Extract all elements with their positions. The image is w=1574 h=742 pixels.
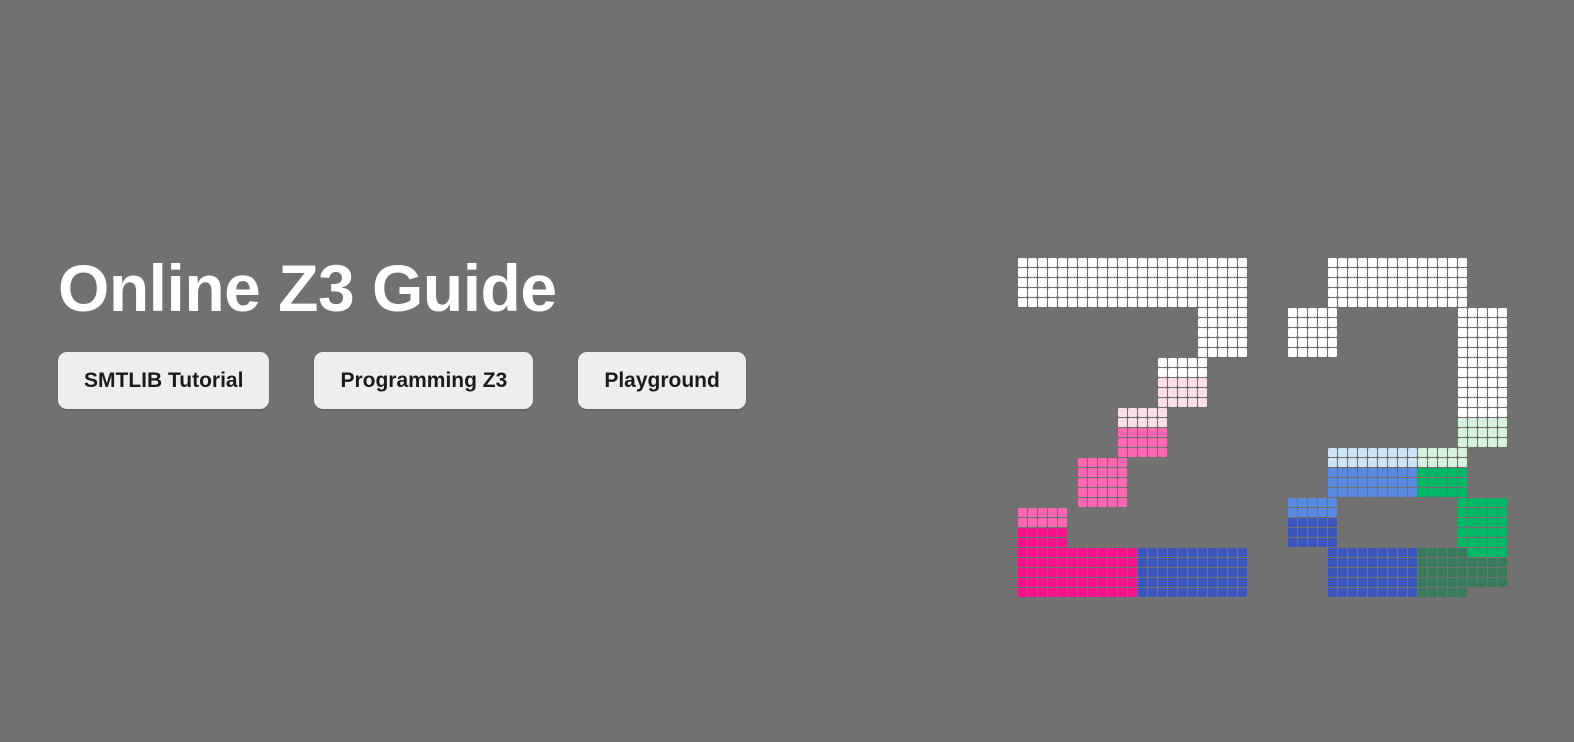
logo-pixel — [1448, 568, 1457, 577]
logo-pixel — [1478, 428, 1487, 437]
logo-pixel — [1348, 568, 1357, 577]
logo-pixel — [1488, 578, 1497, 587]
logo-pixel — [1458, 578, 1467, 587]
logo-pixel — [1058, 508, 1067, 517]
logo-pixel — [1388, 298, 1397, 307]
logo-pixel — [1488, 528, 1497, 537]
logo-pixel — [1488, 418, 1497, 427]
logo-pixel — [1108, 548, 1117, 557]
logo-pixel — [1188, 268, 1197, 277]
logo-pixel — [1298, 508, 1307, 517]
logo-pixel — [1038, 298, 1047, 307]
playground-button[interactable]: Playground — [578, 352, 746, 409]
logo-pixel — [1238, 318, 1247, 327]
hero-button-group: SMTLIB Tutorial Programming Z3 Playgroun… — [58, 352, 978, 409]
logo-pixel — [1478, 578, 1487, 587]
logo-pixel — [1128, 438, 1137, 447]
logo-pixel — [1228, 268, 1237, 277]
logo-pixel — [1318, 538, 1327, 547]
logo-pixel — [1098, 468, 1107, 477]
logo-pixel — [1088, 488, 1097, 497]
logo-pixel — [1238, 308, 1247, 317]
logo-pixel — [1398, 278, 1407, 287]
logo-pixel — [1318, 338, 1327, 347]
logo-pixel — [1128, 558, 1137, 567]
logo-pixel — [1168, 588, 1177, 597]
logo-pixel — [1148, 268, 1157, 277]
logo-pixel — [1158, 298, 1167, 307]
logo-pixel — [1448, 268, 1457, 277]
smtlib-tutorial-button[interactable]: SMTLIB Tutorial — [58, 352, 269, 409]
logo-pixel — [1448, 288, 1457, 297]
logo-pixel — [1098, 288, 1107, 297]
logo-pixel — [1468, 408, 1477, 417]
logo-pixel — [1038, 258, 1047, 267]
logo-pixel — [1388, 548, 1397, 557]
logo-pixel — [1028, 278, 1037, 287]
logo-pixel — [1448, 458, 1457, 467]
logo-pixel — [1458, 298, 1467, 307]
logo-pixel — [1458, 438, 1467, 447]
logo-pixel — [1428, 578, 1437, 587]
logo-pixel — [1498, 308, 1507, 317]
logo-pixel — [1118, 288, 1127, 297]
logo-pixel — [1358, 268, 1367, 277]
logo-pixel — [1188, 258, 1197, 267]
logo-pixel — [1028, 288, 1037, 297]
logo-pixel — [1368, 278, 1377, 287]
logo-pixel — [1198, 318, 1207, 327]
logo-pixel — [1498, 578, 1507, 587]
logo-pixel — [1028, 578, 1037, 587]
logo-pixel — [1108, 588, 1117, 597]
logo-pixel — [1448, 488, 1457, 497]
logo-pixel — [1098, 558, 1107, 567]
logo-pixel — [1358, 568, 1367, 577]
logo-pixel — [1298, 308, 1307, 317]
logo-pixel — [1408, 558, 1417, 567]
logo-pixel — [1328, 278, 1337, 287]
logo-pixel — [1368, 468, 1377, 477]
logo-pixel — [1158, 558, 1167, 567]
logo-pixel — [1178, 368, 1187, 377]
logo-pixel — [1208, 348, 1217, 357]
logo-pixel — [1108, 268, 1117, 277]
logo-pixel — [1358, 578, 1367, 587]
logo-pixel — [1088, 468, 1097, 477]
logo-pixel — [1338, 278, 1347, 287]
logo-pixel — [1418, 458, 1427, 467]
logo-pixel — [1338, 588, 1347, 597]
logo-pixel — [1328, 338, 1337, 347]
logo-pixel — [1488, 558, 1497, 567]
logo-pixel — [1348, 258, 1357, 267]
logo-pixel — [1458, 518, 1467, 527]
logo-pixel — [1198, 358, 1207, 367]
logo-pixel — [1368, 488, 1377, 497]
logo-pixel — [1158, 578, 1167, 587]
logo-pixel — [1328, 348, 1337, 357]
logo-pixel — [1148, 578, 1157, 587]
logo-pixel — [1458, 418, 1467, 427]
logo-pixel — [1328, 468, 1337, 477]
logo-pixel — [1418, 558, 1427, 567]
logo-pixel — [1478, 358, 1487, 367]
logo-pixel — [1238, 258, 1247, 267]
logo-pixel — [1498, 518, 1507, 527]
logo-pixel — [1118, 408, 1127, 417]
logo-pixel — [1108, 498, 1117, 507]
logo-pixel — [1438, 548, 1447, 557]
logo-pixel — [1018, 278, 1027, 287]
logo-pixel — [1218, 578, 1227, 587]
logo-pixel — [1198, 258, 1207, 267]
logo-pixel — [1038, 568, 1047, 577]
logo-pixel — [1218, 348, 1227, 357]
logo-pixel — [1418, 278, 1427, 287]
logo-pixel — [1018, 558, 1027, 567]
logo-pixel — [1198, 578, 1207, 587]
logo-pixel — [1458, 558, 1467, 567]
logo-pixel — [1498, 428, 1507, 437]
logo-pixel — [1368, 258, 1377, 267]
logo-pixel — [1118, 448, 1127, 457]
logo-pixel — [1078, 478, 1087, 487]
logo-pixel — [1478, 558, 1487, 567]
logo-pixel — [1208, 328, 1217, 337]
logo-pixel — [1118, 258, 1127, 267]
logo-pixel — [1498, 528, 1507, 537]
logo-pixel — [1138, 438, 1147, 447]
logo-pixel — [1118, 478, 1127, 487]
logo-pixel — [1378, 258, 1387, 267]
logo-pixel — [1298, 538, 1307, 547]
logo-pixel — [1458, 328, 1467, 337]
logo-pixel — [1178, 588, 1187, 597]
logo-pixel — [1208, 268, 1217, 277]
logo-pixel — [1438, 568, 1447, 577]
logo-pixel — [1058, 558, 1067, 567]
logo-pixel — [1458, 358, 1467, 367]
logo-pixel — [1468, 398, 1477, 407]
logo-pixel — [1458, 588, 1467, 597]
logo-pixel — [1388, 458, 1397, 467]
logo-pixel — [1038, 508, 1047, 517]
logo-pixel — [1378, 268, 1387, 277]
logo-pixel — [1038, 578, 1047, 587]
logo-pixel — [1458, 268, 1467, 277]
logo-pixel — [1168, 548, 1177, 557]
logo-pixel — [1478, 368, 1487, 377]
logo-pixel — [1448, 548, 1457, 557]
logo-pixel — [1098, 268, 1107, 277]
logo-pixel — [1468, 508, 1477, 517]
logo-pixel — [1098, 458, 1107, 467]
logo-pixel — [1358, 478, 1367, 487]
logo-pixel — [1458, 408, 1467, 417]
logo-pixel — [1408, 478, 1417, 487]
logo-pixel — [1478, 528, 1487, 537]
logo-pixel — [1378, 568, 1387, 577]
logo-pixel — [1338, 578, 1347, 587]
logo-pixel — [1318, 318, 1327, 327]
logo-pixel — [1048, 298, 1057, 307]
logo-pixel — [1088, 578, 1097, 587]
logo-pixel — [1058, 528, 1067, 537]
logo-pixel — [1418, 268, 1427, 277]
logo-pixel — [1448, 578, 1457, 587]
logo-pixel — [1178, 268, 1187, 277]
logo-pixel — [1448, 468, 1457, 477]
logo-pixel — [1098, 298, 1107, 307]
logo-pixel — [1498, 388, 1507, 397]
logo-pixel — [1328, 528, 1337, 537]
logo-pixel — [1398, 568, 1407, 577]
logo-pixel — [1028, 588, 1037, 597]
logo-pixel — [1338, 558, 1347, 567]
logo-pixel — [1288, 318, 1297, 327]
logo-pixel — [1128, 588, 1137, 597]
logo-pixel — [1028, 508, 1037, 517]
logo-pixel — [1058, 568, 1067, 577]
logo-pixel — [1458, 538, 1467, 547]
logo-pixel — [1138, 588, 1147, 597]
logo-pixel — [1158, 258, 1167, 267]
logo-pixel — [1428, 478, 1437, 487]
logo-pixel — [1388, 288, 1397, 297]
logo-pixel — [1338, 488, 1347, 497]
logo-pixel — [1078, 498, 1087, 507]
logo-pixel — [1078, 278, 1087, 287]
logo-pixel — [1358, 548, 1367, 557]
logo-pixel — [1328, 448, 1337, 457]
logo-pixel — [1498, 568, 1507, 577]
logo-pixel — [1078, 288, 1087, 297]
logo-pixel — [1188, 388, 1197, 397]
logo-pixel — [1098, 488, 1107, 497]
logo-pixel — [1158, 368, 1167, 377]
logo-pixel — [1208, 298, 1217, 307]
logo-pixel — [1288, 498, 1297, 507]
logo-pixel — [1488, 378, 1497, 387]
logo-pixel — [1408, 568, 1417, 577]
hero-text-block: Online Z3 Guide SMTLIB Tutorial Programm… — [58, 255, 978, 409]
logo-pixel — [1388, 278, 1397, 287]
logo-pixel — [1168, 558, 1177, 567]
logo-pixel — [1418, 258, 1427, 267]
logo-pixel — [1118, 488, 1127, 497]
logo-pixel — [1398, 288, 1407, 297]
logo-pixel — [1158, 278, 1167, 287]
logo-pixel — [1388, 588, 1397, 597]
logo-pixel — [1198, 398, 1207, 407]
logo-pixel — [1018, 568, 1027, 577]
logo-pixel — [1478, 408, 1487, 417]
logo-pixel — [1298, 318, 1307, 327]
logo-pixel — [1228, 298, 1237, 307]
logo-pixel — [1058, 258, 1067, 267]
page-title: Online Z3 Guide — [58, 255, 978, 321]
logo-pixel — [1138, 428, 1147, 437]
logo-pixel — [1478, 318, 1487, 327]
logo-pixel — [1308, 518, 1317, 527]
logo-pixel — [1338, 258, 1347, 267]
logo-pixel — [1328, 488, 1337, 497]
logo-pixel — [1288, 508, 1297, 517]
logo-pixel — [1238, 548, 1247, 557]
logo-pixel — [1078, 558, 1087, 567]
logo-pixel — [1478, 398, 1487, 407]
logo-pixel — [1498, 348, 1507, 357]
logo-pixel — [1218, 588, 1227, 597]
logo-pixel — [1108, 288, 1117, 297]
logo-pixel — [1228, 568, 1237, 577]
logo-pixel — [1128, 418, 1137, 427]
logo-pixel — [1458, 258, 1467, 267]
logo-pixel — [1038, 548, 1047, 557]
logo-pixel — [1428, 288, 1437, 297]
logo-pixel — [1468, 308, 1477, 317]
logo-pixel — [1148, 558, 1157, 567]
logo-pixel — [1468, 328, 1477, 337]
logo-pixel — [1468, 578, 1477, 587]
logo-pixel — [1398, 548, 1407, 557]
logo-pixel — [1358, 588, 1367, 597]
logo-pixel — [1358, 298, 1367, 307]
logo-pixel — [1348, 268, 1357, 277]
logo-pixel — [1498, 328, 1507, 337]
logo-pixel — [1158, 568, 1167, 577]
logo-pixel — [1218, 308, 1227, 317]
logo-pixel — [1418, 448, 1427, 457]
logo-pixel — [1158, 438, 1167, 447]
logo-pixel — [1378, 578, 1387, 587]
logo-pixel — [1208, 258, 1217, 267]
logo-pixel — [1148, 438, 1157, 447]
logo-pixel — [1138, 298, 1147, 307]
logo-pixel — [1048, 268, 1057, 277]
logo-pixel — [1328, 268, 1337, 277]
logo-pixel — [1328, 518, 1337, 527]
logo-pixel — [1458, 368, 1467, 377]
logo-pixel — [1388, 258, 1397, 267]
logo-pixel — [1188, 568, 1197, 577]
logo-pixel — [1408, 458, 1417, 467]
logo-pixel — [1038, 528, 1047, 537]
logo-pixel — [1358, 448, 1367, 457]
logo-pixel — [1458, 498, 1467, 507]
logo-pixel — [1328, 588, 1337, 597]
logo-pixel — [1428, 588, 1437, 597]
logo-pixel — [1028, 268, 1037, 277]
logo-pixel — [1378, 458, 1387, 467]
logo-pixel — [1018, 258, 1027, 267]
logo-pixel — [1408, 298, 1417, 307]
logo-pixel — [1028, 258, 1037, 267]
logo-pixel — [1108, 558, 1117, 567]
logo-pixel — [1078, 588, 1087, 597]
logo-pixel — [1018, 508, 1027, 517]
logo-pixel — [1478, 348, 1487, 357]
logo-pixel — [1228, 318, 1237, 327]
logo-pixel — [1458, 308, 1467, 317]
logo-pixel — [1048, 568, 1057, 577]
logo-pixel — [1468, 338, 1477, 347]
logo-pixel — [1408, 258, 1417, 267]
logo-pixel — [1458, 318, 1467, 327]
logo-pixel — [1098, 568, 1107, 577]
logo-pixel — [1168, 578, 1177, 587]
logo-pixel — [1418, 488, 1427, 497]
logo-pixel — [1358, 288, 1367, 297]
logo-pixel — [1458, 478, 1467, 487]
logo-pixel — [1468, 358, 1477, 367]
logo-pixel — [1108, 488, 1117, 497]
logo-pixel — [1088, 588, 1097, 597]
logo-pixel — [1208, 308, 1217, 317]
logo-pixel — [1238, 578, 1247, 587]
logo-pixel — [1498, 408, 1507, 417]
logo-pixel — [1318, 528, 1327, 537]
logo-pixel — [1058, 538, 1067, 547]
logo-pixel — [1088, 278, 1097, 287]
logo-pixel — [1348, 578, 1357, 587]
logo-pixel — [1178, 298, 1187, 307]
logo-pixel — [1018, 268, 1027, 277]
logo-pixel — [1148, 258, 1157, 267]
logo-pixel — [1188, 278, 1197, 287]
programming-z3-button[interactable]: Programming Z3 — [314, 352, 533, 409]
logo-pixel — [1308, 538, 1317, 547]
logo-pixel — [1178, 278, 1187, 287]
logo-pixel — [1388, 558, 1397, 567]
logo-pixel — [1178, 258, 1187, 267]
logo-pixel — [1158, 448, 1167, 457]
logo-pixel — [1458, 288, 1467, 297]
logo-pixel — [1428, 468, 1437, 477]
logo-pixel — [1048, 528, 1057, 537]
logo-pixel — [1058, 518, 1067, 527]
logo-pixel — [1038, 288, 1047, 297]
logo-pixel — [1438, 488, 1447, 497]
logo-pixel — [1208, 558, 1217, 567]
logo-pixel — [1408, 448, 1417, 457]
logo-pixel — [1488, 368, 1497, 377]
logo-pixel — [1488, 538, 1497, 547]
logo-pixel — [1138, 548, 1147, 557]
logo-pixel — [1378, 278, 1387, 287]
logo-pixel — [1378, 558, 1387, 567]
logo-pixel — [1498, 358, 1507, 367]
logo-pixel — [1388, 448, 1397, 457]
logo-pixel — [1228, 258, 1237, 267]
logo-pixel — [1468, 568, 1477, 577]
logo-pixel — [1168, 398, 1177, 407]
logo-pixel — [1308, 318, 1317, 327]
logo-pixel — [1208, 588, 1217, 597]
logo-pixel — [1328, 258, 1337, 267]
logo-pixel — [1388, 488, 1397, 497]
logo-pixel — [1018, 298, 1027, 307]
logo-pixel — [1118, 458, 1127, 467]
logo-pixel — [1308, 308, 1317, 317]
logo-pixel — [1328, 578, 1337, 587]
logo-pixel — [1478, 338, 1487, 347]
logo-pixel — [1198, 278, 1207, 287]
logo-pixel — [1418, 288, 1427, 297]
logo-pixel — [1068, 588, 1077, 597]
logo-pixel — [1438, 448, 1447, 457]
